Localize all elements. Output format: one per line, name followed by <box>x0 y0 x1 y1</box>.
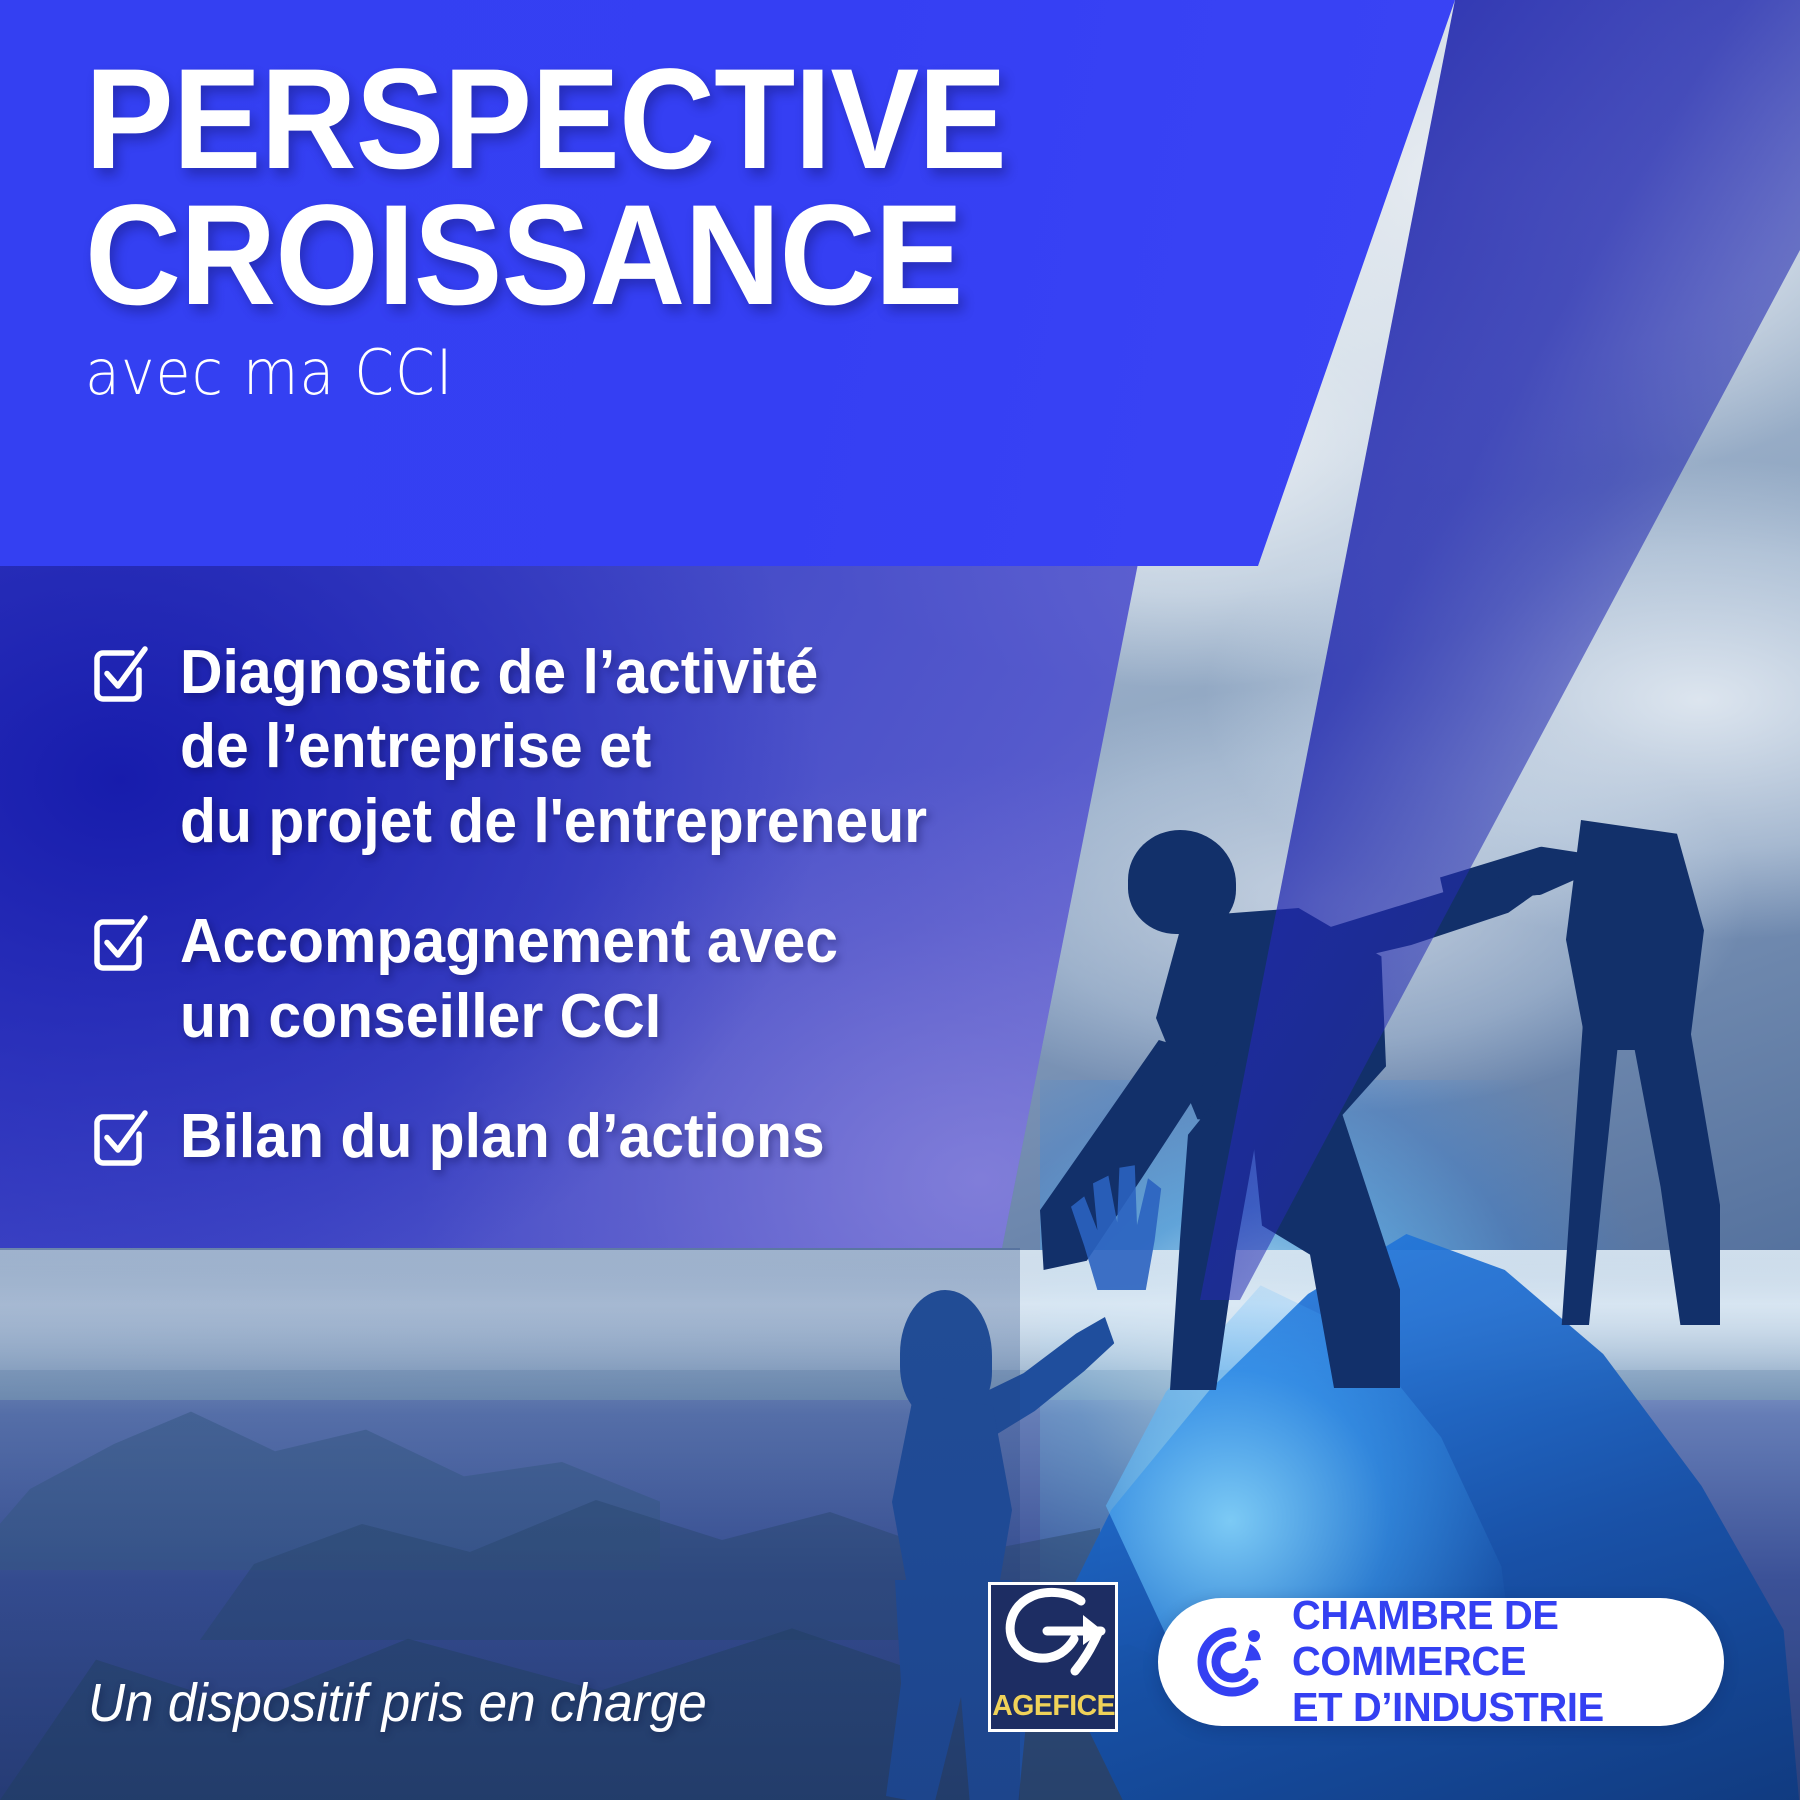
cci-circle-icon <box>1194 1624 1270 1700</box>
cci-wordmark: CHAMBRE DE COMMERCE ET D’INDUSTRIE <box>1292 1593 1711 1731</box>
list-item-label: Diagnostic de l’activité de l’entreprise… <box>180 636 927 859</box>
list-item: Accompagnement avec un conseiller CCI <box>88 905 1208 1054</box>
list-item: Diagnostic de l’activité de l’entreprise… <box>88 636 1208 859</box>
agefice-swoosh-icon <box>995 1587 1113 1687</box>
page-subtitle: avec ma CCI <box>85 340 1143 405</box>
list-item-label: Accompagnement avec un conseiller CCI <box>180 905 838 1054</box>
checkbox-checked-icon <box>88 644 152 708</box>
poster-canvas: PERSPECTIVE CROISSANCE avec ma CCI Diagn… <box>0 0 1800 1800</box>
agefice-wordmark: AGEFICE <box>992 1690 1114 1723</box>
agefice-logo: AGEFICE <box>988 1582 1118 1732</box>
page-title-line-2: CROISSANCE <box>85 188 1155 324</box>
cci-badge: CHAMBRE DE COMMERCE ET D’INDUSTRIE <box>1158 1598 1724 1726</box>
checkbox-checked-icon <box>88 913 152 977</box>
list-item-label: Bilan du plan d’actions <box>180 1100 825 1174</box>
page-title-line-1: PERSPECTIVE <box>85 52 1155 188</box>
checkbox-checked-icon <box>88 1108 152 1172</box>
tagline: Un dispositif pris en charge <box>88 1672 707 1734</box>
title-block: PERSPECTIVE CROISSANCE avec ma CCI <box>85 52 1235 405</box>
list-item: Bilan du plan d’actions <box>88 1100 1208 1174</box>
feature-list: Diagnostic de l’activité de l’entreprise… <box>88 636 1208 1174</box>
